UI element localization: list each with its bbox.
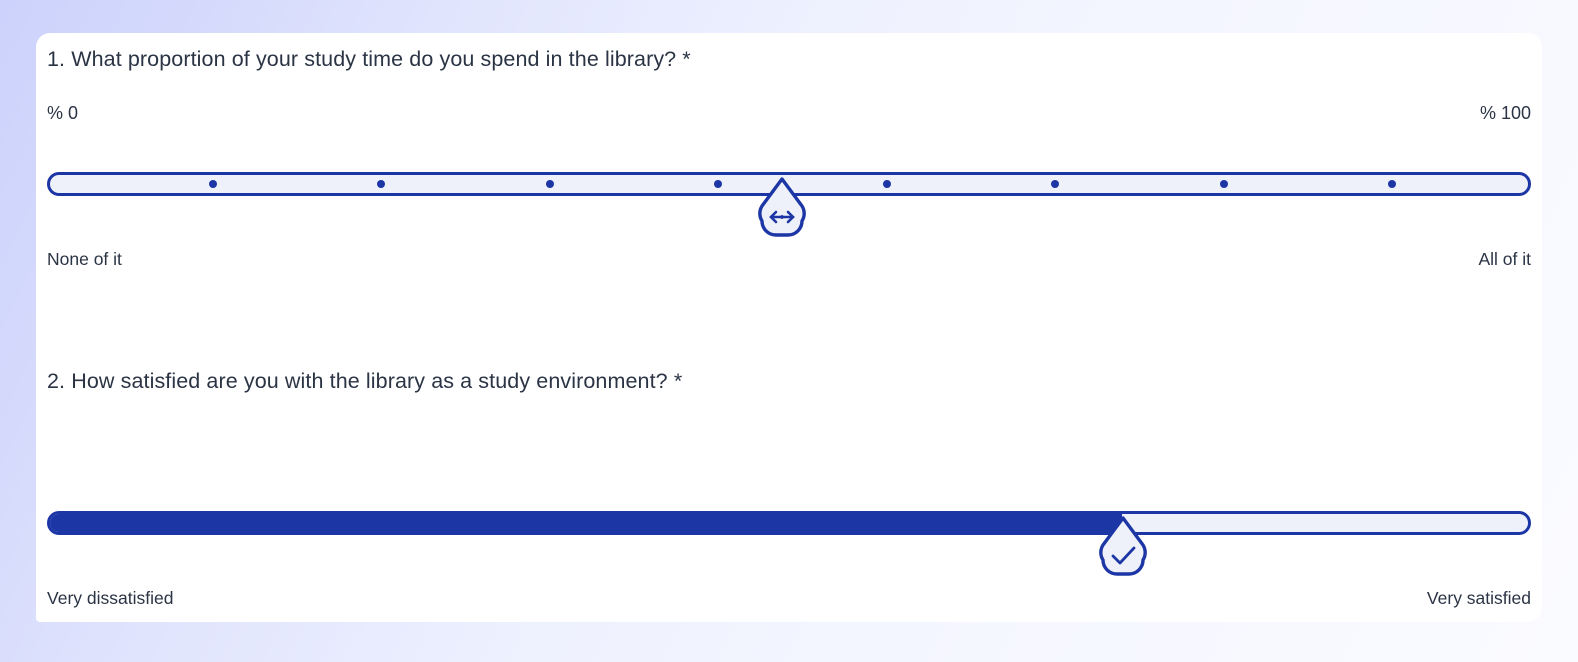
slider-tick [1220, 180, 1228, 188]
question-2-anchors: Very dissatisfied Very satisfied [47, 588, 1531, 609]
slider-tick [1388, 180, 1396, 188]
question-1-anchors: None of it All of it [47, 249, 1531, 270]
slider-tick [714, 180, 722, 188]
slider-tick [546, 180, 554, 188]
question-1-title: 1. What proportion of your study time do… [47, 47, 691, 72]
slider-2-handle[interactable] [1097, 515, 1149, 577]
slider-tick [209, 180, 217, 188]
arrow-center-dot-icon [780, 215, 784, 219]
slider-2-track-inner [50, 514, 1528, 532]
scale-min-label-1: % 0 [47, 103, 78, 124]
slider-2[interactable] [47, 511, 1531, 535]
slider-1[interactable] [47, 172, 1531, 196]
slider-tick [1051, 180, 1059, 188]
anchor-low-1: None of it [47, 249, 122, 270]
slider-2-handle-shape [1101, 518, 1145, 574]
anchor-high-1: All of it [1478, 249, 1531, 270]
slider-tick [883, 180, 891, 188]
slider-1-handle-shape [759, 179, 803, 235]
question-1-scale-endpoints: % 0 % 100 [47, 103, 1531, 124]
anchor-high-2: Very satisfied [1427, 588, 1531, 609]
slider-2-fill [50, 514, 1122, 532]
question-2-title: 2. How satisfied are you with the librar… [47, 369, 682, 394]
slider-1-handle[interactable] [756, 176, 808, 238]
slider-2-track[interactable] [47, 511, 1531, 535]
slider-tick [377, 180, 385, 188]
anchor-low-2: Very dissatisfied [47, 588, 173, 609]
scale-max-label-1: % 100 [1480, 103, 1531, 124]
survey-card: 1. What proportion of your study time do… [36, 33, 1542, 622]
